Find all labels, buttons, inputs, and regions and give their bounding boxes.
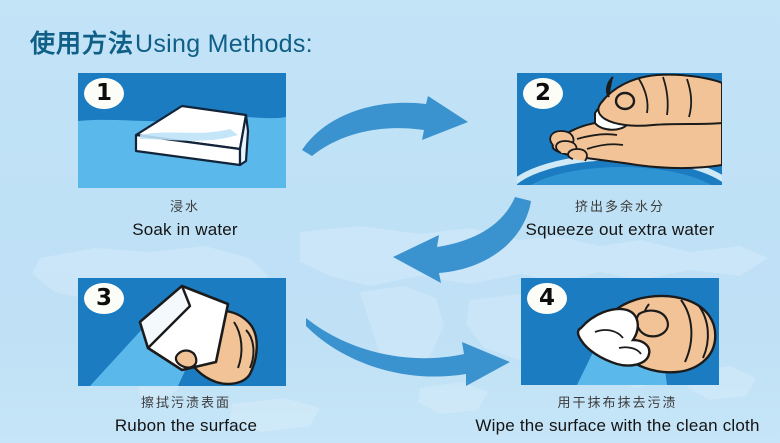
step-4-caption-en: Wipe the surface with the clean cloth — [415, 416, 780, 436]
step-1-caption-en: Soak in water — [0, 220, 370, 240]
page-title-en: Using Methods: — [135, 30, 313, 58]
step-3-illustration[interactable]: 3 — [78, 278, 286, 386]
step-4-caption: 用干抹布抹去污渍 Wipe the surface with the clean… — [415, 392, 780, 436]
step-2-caption-cn: 挤出多余水分 — [420, 196, 780, 215]
step-3-caption-en: Rubon the surface — [0, 416, 372, 436]
step-1-caption-cn: 浸水 — [0, 196, 370, 215]
step-3-number-badge: 3 — [84, 283, 124, 314]
arrow-step3-to-step4 — [300, 300, 530, 390]
step-2-caption-en: Squeeze out extra water — [420, 220, 780, 240]
step-4-caption-cn: 用干抹布抹去污渍 — [415, 392, 780, 411]
step-2-number-badge: 2 — [523, 78, 563, 109]
step-2-illustration[interactable]: 2 — [517, 73, 722, 185]
step-2-caption: 挤出多余水分 Squeeze out extra water — [420, 196, 780, 240]
page-title: 使用方法Using Methods: — [30, 24, 313, 60]
infographic-canvas: 使用方法Using Methods: 1 — [0, 0, 780, 443]
page-title-cn: 使用方法 — [30, 29, 134, 58]
arrow-step1-to-step2 — [298, 92, 518, 172]
step-4-illustration[interactable]: 4 — [521, 278, 719, 385]
step-3-caption-cn: 擦拭污渍表面 — [0, 392, 372, 411]
step-3-caption: 擦拭污渍表面 Rubon the surface — [0, 392, 372, 436]
step-4-number-badge: 4 — [527, 283, 567, 314]
step-1-caption: 浸水 Soak in water — [0, 196, 370, 240]
step-1-illustration[interactable]: 1 — [78, 73, 286, 188]
step-1-number-badge: 1 — [84, 78, 124, 109]
